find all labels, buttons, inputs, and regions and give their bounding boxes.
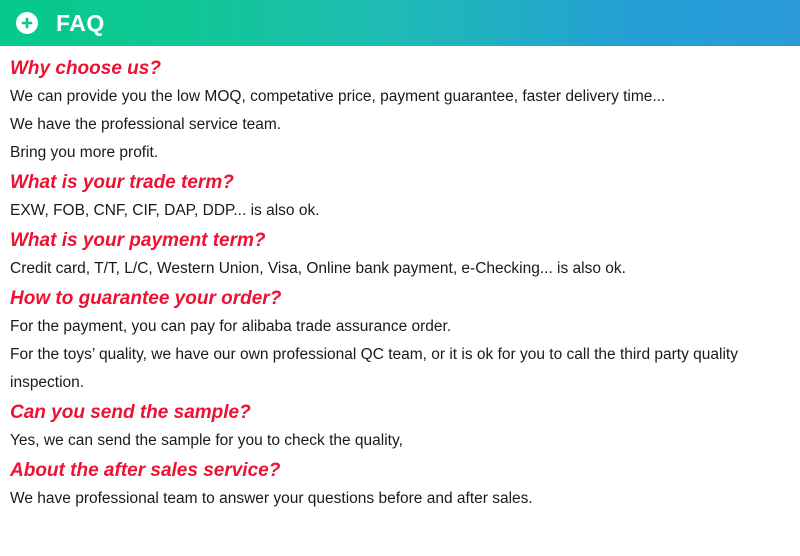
faq-answer: We have the professional service team. xyxy=(10,111,790,139)
faq-answer: Credit card, T/T, L/C, Western Union, Vi… xyxy=(10,255,790,283)
faq-page: FAQ Why choose us? We can provide you th… xyxy=(0,0,800,556)
faq-item: Why choose us? We can provide you the lo… xyxy=(10,55,790,167)
faq-header-bar: FAQ xyxy=(0,0,800,46)
faq-answer: For the payment, you can pay for alibaba… xyxy=(10,313,790,341)
faq-question: How to guarantee your order? xyxy=(10,285,790,313)
plus-circle-icon[interactable] xyxy=(16,12,38,34)
faq-answer: We can provide you the low MOQ, competat… xyxy=(10,83,790,111)
faq-question: What is your payment term? xyxy=(10,227,790,255)
faq-item: Can you send the sample? Yes, we can sen… xyxy=(10,399,790,455)
faq-item: What is your trade term? EXW, FOB, CNF, … xyxy=(10,169,790,225)
faq-item: About the after sales service? We have p… xyxy=(10,457,790,513)
faq-answer: For the toys’ quality, we have our own p… xyxy=(10,341,790,397)
faq-item: What is your payment term? Credit card, … xyxy=(10,227,790,283)
faq-question: Can you send the sample? xyxy=(10,399,790,427)
faq-answer: EXW, FOB, CNF, CIF, DAP, DDP... is also … xyxy=(10,197,790,225)
faq-question: What is your trade term? xyxy=(10,169,790,197)
faq-content: Why choose us? We can provide you the lo… xyxy=(0,46,800,513)
faq-answer: Bring you more profit. xyxy=(10,139,790,167)
faq-answer: Yes, we can send the sample for you to c… xyxy=(10,427,790,455)
faq-question: About the after sales service? xyxy=(10,457,790,485)
page-title: FAQ xyxy=(56,12,105,35)
faq-question: Why choose us? xyxy=(10,55,790,83)
faq-answer: We have professional team to answer your… xyxy=(10,485,790,513)
faq-item: How to guarantee your order? For the pay… xyxy=(10,285,790,397)
